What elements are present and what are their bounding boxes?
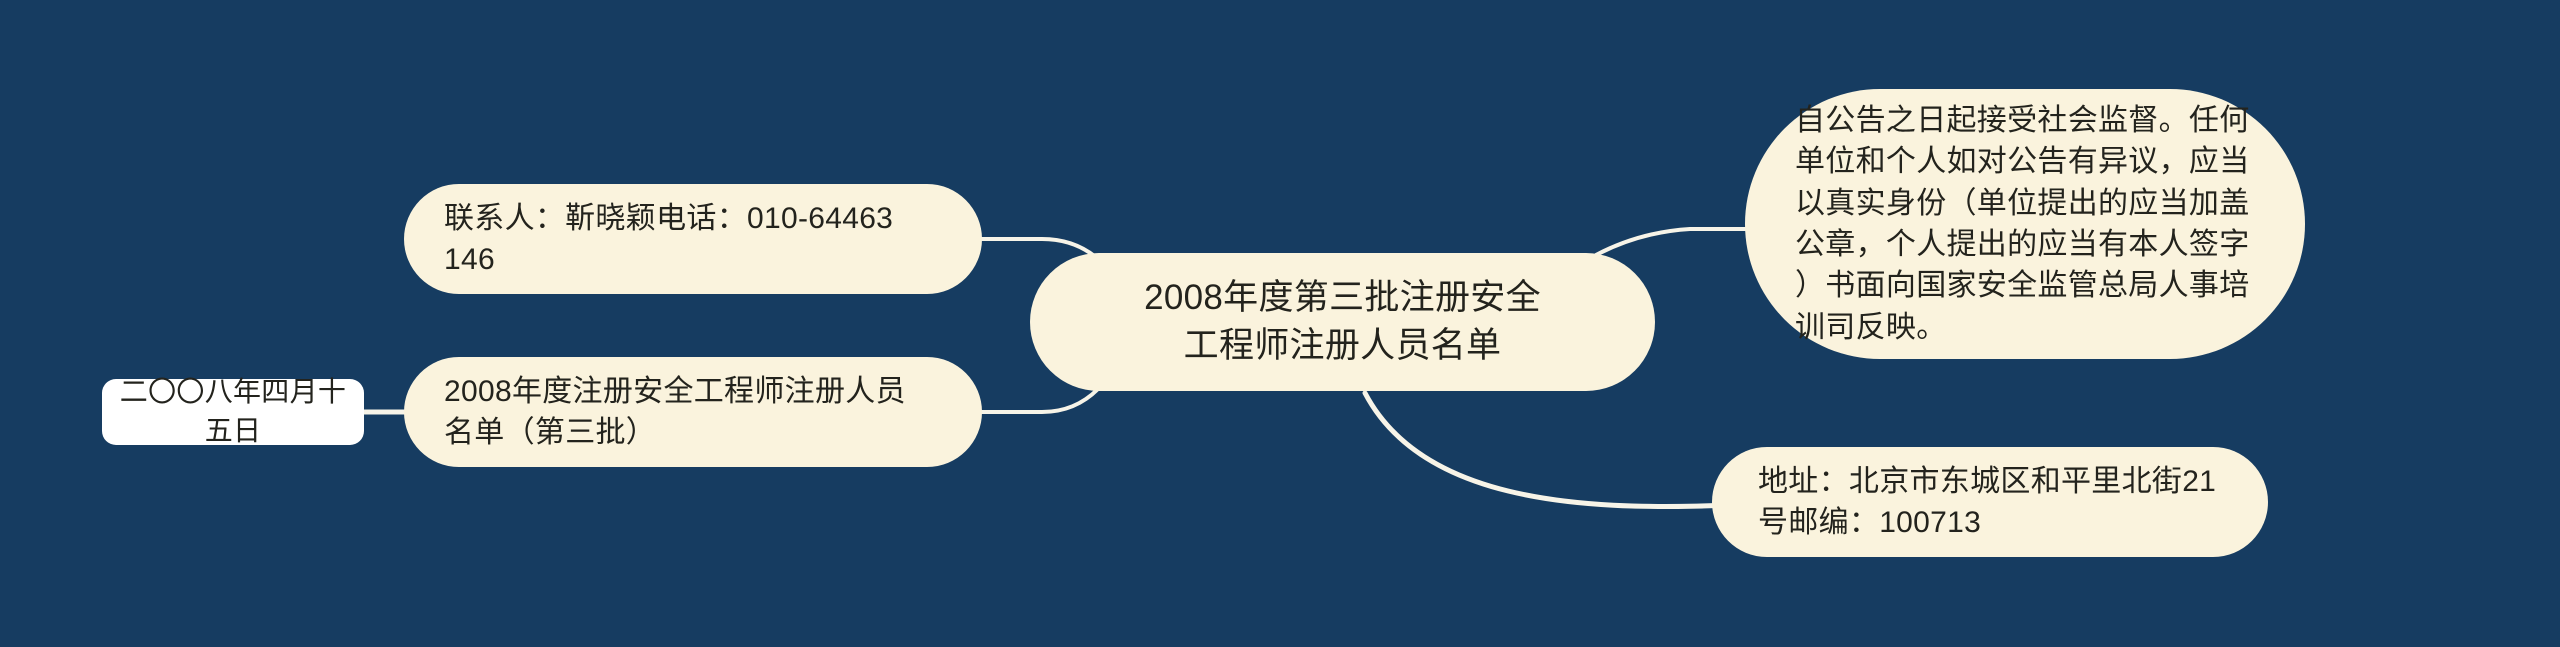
- node-roster-label: 2008年度注册安全工程师注册人员 名单（第三批）: [444, 371, 942, 454]
- node-supervision-label: 自公告之日起接受社会监督。任何 单位和个人如对公告有异议，应当 以真实身份（单位…: [1795, 100, 2255, 348]
- mind-map-canvas: 二〇〇八年四月十五日 联系人：靳晓颖电话：010-64463 146 2008年…: [0, 0, 2560, 647]
- connector-central-to-address: [1365, 393, 1730, 507]
- node-address[interactable]: 地址：北京市东城区和平里北街21 号邮编：100713: [1712, 447, 2268, 557]
- node-central-topic-label: 2008年度第三批注册安全 工程师注册人员名单: [1076, 274, 1609, 371]
- node-contact-label: 联系人：靳晓颖电话：010-64463 146: [444, 198, 942, 281]
- node-central-topic[interactable]: 2008年度第三批注册安全 工程师注册人员名单: [1030, 253, 1655, 391]
- connector-roster-to-central: [980, 389, 1098, 412]
- connector-central-to-supervision: [1596, 229, 1762, 255]
- node-contact[interactable]: 联系人：靳晓颖电话：010-64463 146: [404, 184, 982, 294]
- node-date-label: 二〇〇八年四月十五日: [116, 373, 350, 450]
- node-supervision[interactable]: 自公告之日起接受社会监督。任何 单位和个人如对公告有异议，应当 以真实身份（单位…: [1745, 89, 2305, 359]
- node-roster[interactable]: 2008年度注册安全工程师注册人员 名单（第三批）: [404, 357, 982, 467]
- node-date[interactable]: 二〇〇八年四月十五日: [102, 379, 364, 445]
- node-address-label: 地址：北京市东城区和平里北街21 号邮编：100713: [1758, 461, 2222, 544]
